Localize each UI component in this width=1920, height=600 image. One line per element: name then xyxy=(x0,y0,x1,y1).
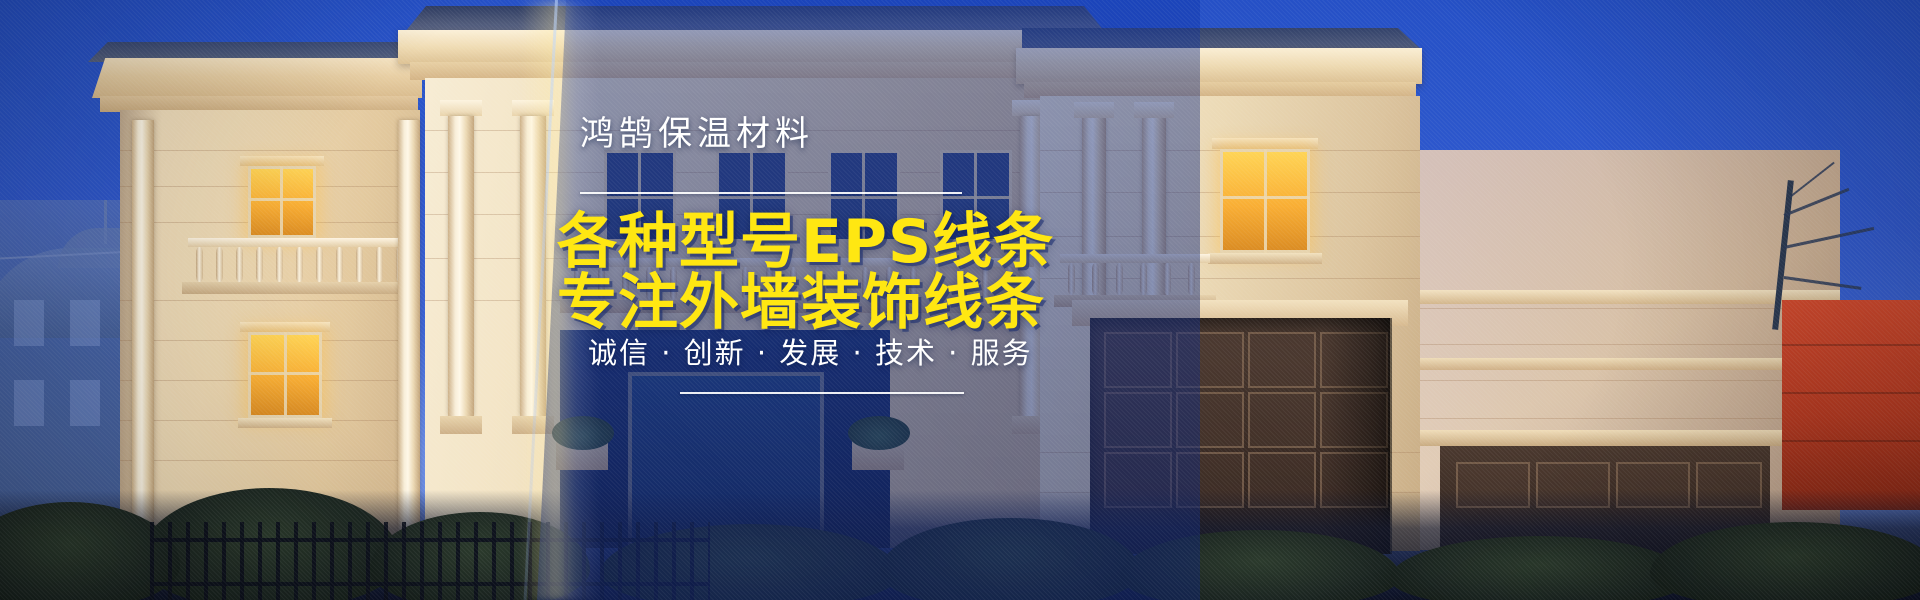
red-structure xyxy=(1782,300,1920,510)
column-capital xyxy=(440,100,482,116)
window-head xyxy=(240,322,330,332)
distant-window xyxy=(70,300,100,346)
window-sill xyxy=(238,418,332,428)
balcony-slab xyxy=(182,282,420,294)
text-overlay-panel xyxy=(537,0,1200,600)
balcony-rail xyxy=(188,238,414,247)
left-wing-cornice xyxy=(92,58,422,98)
distant-window xyxy=(70,380,100,426)
right-extension-ledge xyxy=(1420,358,1840,370)
distant-window xyxy=(14,300,44,346)
distant-window xyxy=(14,380,44,426)
right-extension-cornice xyxy=(1420,430,1840,446)
window-sill xyxy=(1208,253,1322,264)
panel-light-streak xyxy=(520,0,600,600)
window-head xyxy=(240,156,324,166)
window-head xyxy=(1212,138,1318,149)
pilaster xyxy=(132,120,154,540)
column xyxy=(448,116,474,416)
promotional-banner: 鸿鹄保温材料 各种型号EPS线条 专注外墙装饰线条 诚信 · 创新 · 发展 ·… xyxy=(0,0,1920,600)
pilaster xyxy=(398,120,420,540)
distant-building-mast xyxy=(104,200,107,244)
column-base xyxy=(440,416,482,434)
